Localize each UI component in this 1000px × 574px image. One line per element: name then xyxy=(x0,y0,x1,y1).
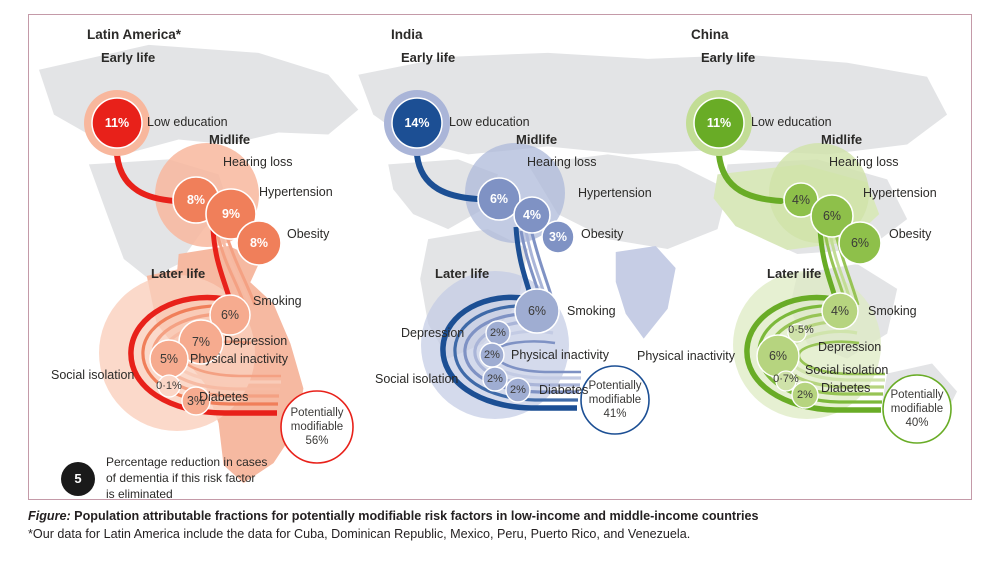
risk-label-hearing-loss-latin-america: Hearing loss xyxy=(223,155,292,169)
risk-label-hypertension-india: Hypertension xyxy=(578,186,652,200)
legend-line-1: Percentage reduction in cases xyxy=(106,455,267,471)
risk-label-diabetes-india: Diabetes xyxy=(539,383,588,397)
stage-label-mid-china: Midlife xyxy=(821,133,862,148)
bubble-diabetes-india[interactable] xyxy=(506,378,530,402)
stage-label-mid-latin-america: Midlife xyxy=(209,133,250,148)
bubble-low-education-india[interactable] xyxy=(392,98,442,148)
stage-label-early-india: Early life xyxy=(401,51,455,66)
total-label-china: Potentially modifiable 40% xyxy=(890,388,943,430)
total-value-india: 41% xyxy=(603,408,626,420)
risk-factor-flow-diagram xyxy=(29,15,972,500)
total-caption-line1-in: Potentially xyxy=(588,380,641,392)
stage-label-early-china: Early life xyxy=(701,51,755,66)
total-caption-line2-cn: modifiable xyxy=(891,403,943,415)
bubble-depression-india[interactable] xyxy=(486,321,510,345)
risk-label-depression-china: Depression xyxy=(818,340,881,354)
risk-label-diabetes-latin-america: Diabetes xyxy=(199,390,248,404)
risk-label-hypertension-latin-america: Hypertension xyxy=(259,185,333,199)
bubble-social-isolation-india[interactable] xyxy=(483,367,507,391)
region-title-latin-america: Latin America* xyxy=(87,27,181,43)
caption-figure-word: Figure: xyxy=(28,509,71,523)
total-caption-line2-in: modifiable xyxy=(589,394,641,406)
legend-line-3: is eliminated xyxy=(106,487,267,500)
risk-label-hearing-loss-china: Hearing loss xyxy=(829,155,898,169)
legend-badge: 5 xyxy=(61,462,95,496)
risk-label-obesity-china: Obesity xyxy=(889,227,931,241)
stage-label-later-latin-america: Later life xyxy=(151,267,205,282)
bubble-low-education-china[interactable] xyxy=(694,98,744,148)
bubble-physical-inactivity-latin-america[interactable] xyxy=(150,340,188,378)
risk-label-physical-inactivity-china: Physical inactivity xyxy=(637,349,735,363)
stage-label-later-china: Later life xyxy=(767,267,821,282)
total-caption-line1-la: Potentially xyxy=(290,407,343,419)
bubble-diabetes-china[interactable] xyxy=(792,382,818,408)
bubble-social-isolation-latin-america[interactable] xyxy=(158,375,180,397)
bubble-obesity-india[interactable] xyxy=(542,221,574,253)
caption-line-2: *Our data for Latin America include the … xyxy=(28,526,978,544)
risk-label-physical-inactivity-india: Physical inactivity xyxy=(511,348,609,362)
risk-label-smoking-china: Smoking xyxy=(868,304,917,318)
caption-line-1-text: Population attributable fractions for po… xyxy=(71,509,759,523)
bubble-obesity-china[interactable] xyxy=(839,222,881,264)
risk-label-hypertension-china: Hypertension xyxy=(863,186,937,200)
bubble-physical-inactivity-china[interactable] xyxy=(757,335,799,377)
bubble-smoking-india[interactable] xyxy=(515,289,559,333)
bubble-low-education-latin-america[interactable] xyxy=(92,98,142,148)
total-label-latin-america: Potentially modifiable 56% xyxy=(290,406,343,448)
risk-label-depression-india: Depression xyxy=(401,326,464,340)
bubble-social-isolation-china[interactable] xyxy=(776,371,796,391)
risk-label-social-isolation-latin-america: Social isolation xyxy=(51,368,134,382)
risk-label-smoking-india: Smoking xyxy=(567,304,616,318)
risk-label-obesity-latin-america: Obesity xyxy=(287,227,329,241)
total-value-china: 40% xyxy=(905,417,928,429)
risk-label-social-isolation-china: Social isolation xyxy=(805,363,888,377)
legend-text: Percentage reduction in cases of dementi… xyxy=(106,455,267,500)
legend: 5 Percentage reduction in cases of demen… xyxy=(61,455,267,500)
stage-label-mid-india: Midlife xyxy=(516,133,557,148)
stage-label-later-india: Later life xyxy=(435,267,489,282)
risk-label-low-education-india: Low education xyxy=(449,115,530,129)
total-caption-line1-cn: Potentially xyxy=(890,389,943,401)
risk-label-depression-latin-america: Depression xyxy=(224,334,287,348)
risk-label-hearing-loss-india: Hearing loss xyxy=(527,155,596,169)
region-title-india: India xyxy=(391,27,423,43)
legend-line-2: of dementia if this risk factor xyxy=(106,471,267,487)
figure-root: Latin America* Early life Low education … xyxy=(0,0,1000,574)
chart-panel: Latin America* Early life Low education … xyxy=(28,14,972,500)
risk-label-smoking-latin-america: Smoking xyxy=(253,294,302,308)
risk-label-low-education-china: Low education xyxy=(751,115,832,129)
caption-line-1: Figure: Population attributable fraction… xyxy=(28,508,978,526)
bubble-physical-inactivity-india[interactable] xyxy=(480,343,504,367)
risk-label-physical-inactivity-latin-america: Physical inactivity xyxy=(190,352,288,366)
bubble-smoking-china[interactable] xyxy=(822,293,858,329)
risk-label-obesity-india: Obesity xyxy=(581,227,623,241)
bubble-obesity-latin-america[interactable] xyxy=(237,221,281,265)
total-value-latin-america: 56% xyxy=(305,435,328,447)
total-label-india: Potentially modifiable 41% xyxy=(588,379,641,421)
risk-label-social-isolation-india: Social isolation xyxy=(375,372,458,386)
region-title-china: China xyxy=(691,27,729,43)
figure-caption: Figure: Population attributable fraction… xyxy=(28,508,978,544)
stage-label-early-latin-america: Early life xyxy=(101,51,155,66)
risk-label-low-education-latin-america: Low education xyxy=(147,115,228,129)
risk-label-diabetes-china: Diabetes xyxy=(821,381,870,395)
total-caption-line2-la: modifiable xyxy=(291,421,343,433)
